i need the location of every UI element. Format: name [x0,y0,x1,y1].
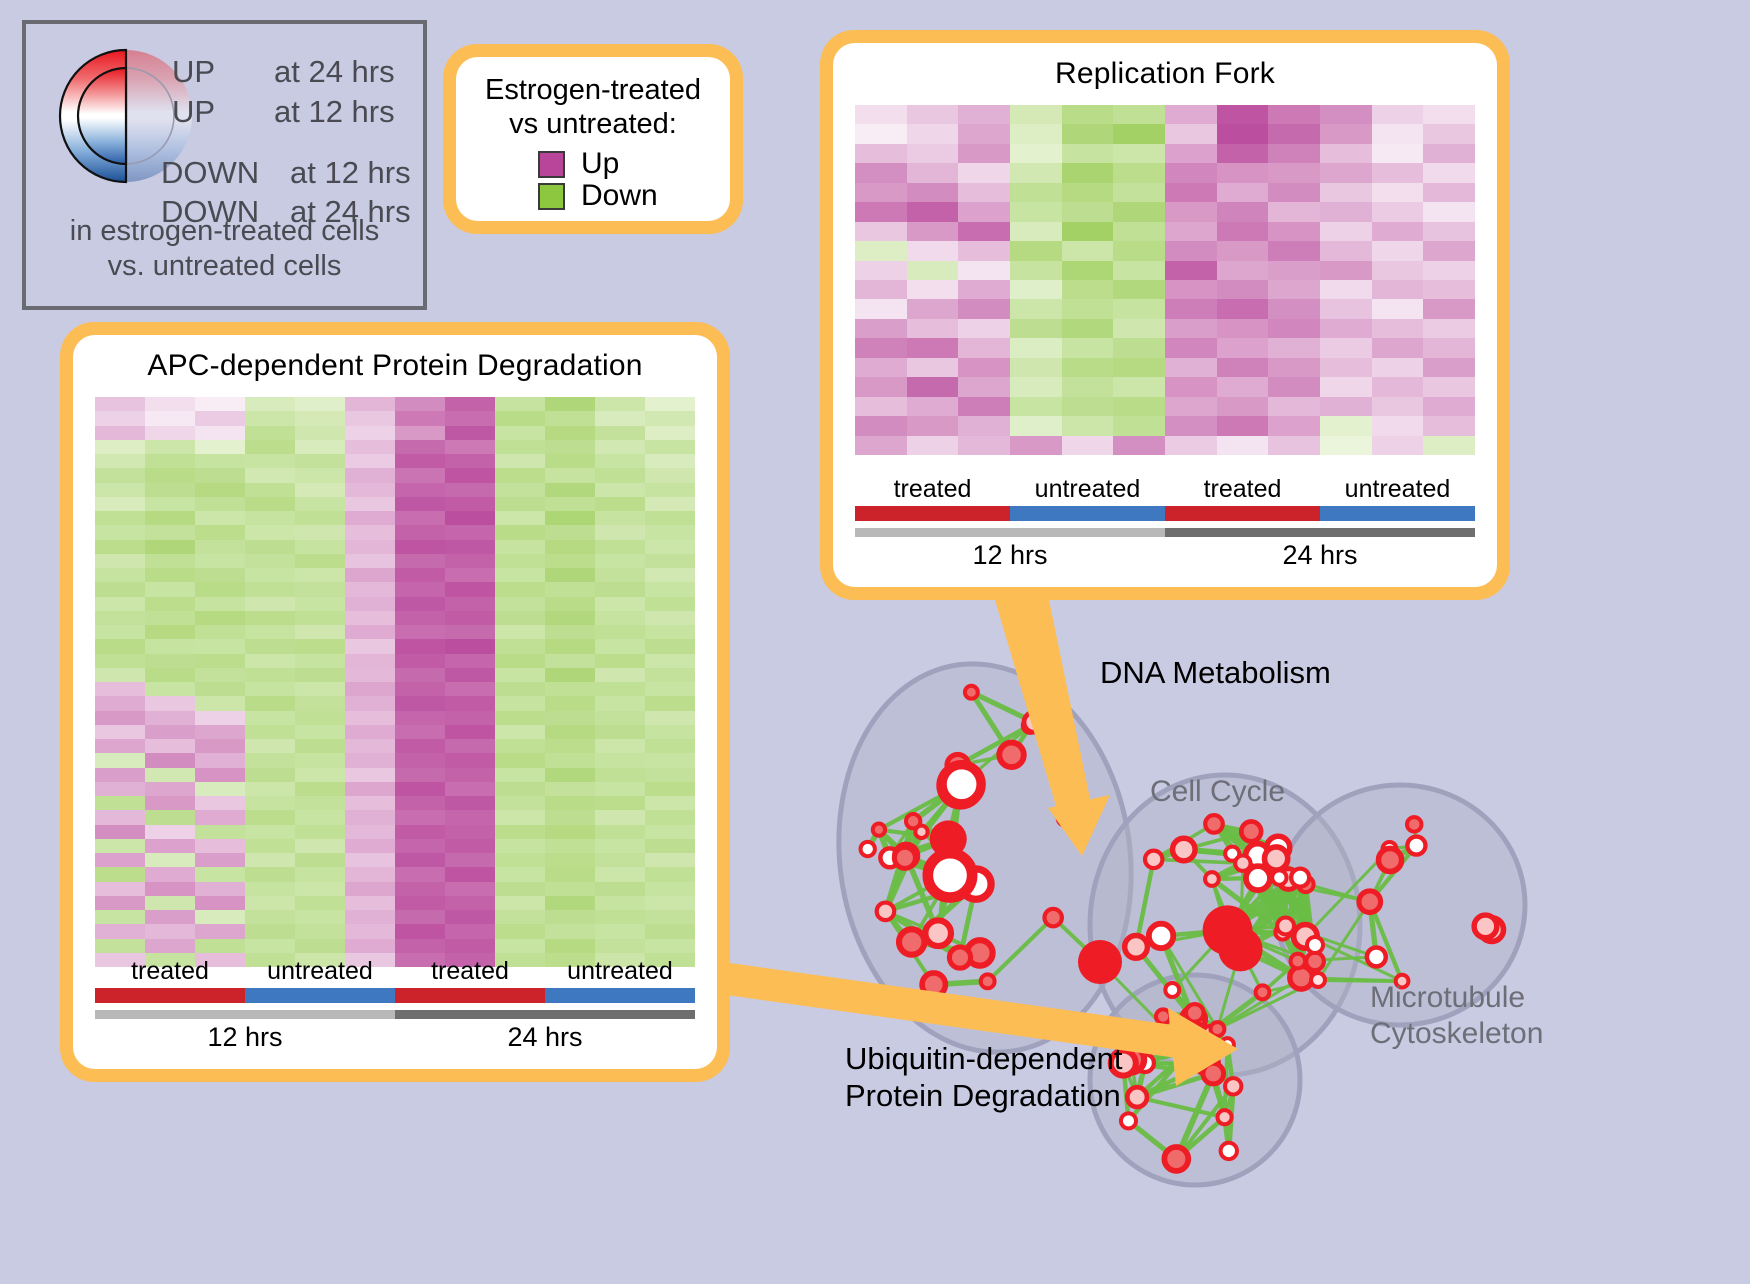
heatmap-cell [95,582,145,596]
heatmap-cell [1062,338,1114,357]
heatmap-cell [195,397,245,411]
time-bar-segment [855,528,1165,537]
heatmap-cell [545,810,595,824]
heatmap-cell [295,882,345,896]
heatmap-cell [95,782,145,796]
time-bar-segment [1165,528,1475,537]
heatmap-cell [245,939,295,953]
heatmap-cell [1217,436,1269,455]
heatmap-cell [295,454,345,468]
heatmap-cell [1320,105,1372,124]
heatmap-cell [1268,397,1320,416]
heatmap-cell [495,739,545,753]
heatmap-cell [1165,202,1217,221]
heatmap-cell [145,440,195,454]
heatmap-cell [1165,319,1217,338]
heatmap-cell [395,839,445,853]
heatmap-cell [195,554,245,568]
heatmap-cell [495,796,545,810]
heatmap-cell [595,810,645,824]
network-node [1024,712,1044,732]
heatmap-cell [1320,163,1372,182]
heatmap-cell [645,511,695,525]
heatmap-cell [145,939,195,953]
heatmap-cell [95,910,145,924]
heatmap-cell [1268,144,1320,163]
heatmap-cell [95,554,145,568]
heatmap-cell [545,426,595,440]
network-node [1221,1038,1234,1051]
heatmap-cell [445,511,495,525]
heatmap-cell [195,639,245,653]
condition-bar-segment [95,988,245,1003]
heatmap-cell [295,397,345,411]
heatmap-cell [545,468,595,482]
heatmap-cell [855,338,907,357]
heatmap-cell [95,668,145,682]
heatmap-cell [1423,377,1475,396]
network-node [1407,817,1421,831]
heatmap-cell [395,397,445,411]
heatmap-cell [195,910,245,924]
heatmap-cell [1113,105,1165,124]
heatmap-cell [1268,436,1320,455]
heatmap-cell [195,440,245,454]
heatmap-cell [295,597,345,611]
heatmap-cell [345,397,395,411]
heatmap-cell [1268,105,1320,124]
heatmap-cell [545,739,595,753]
heatmap-cell [1423,163,1475,182]
heatmap-cell [1113,124,1165,143]
down-swatch-icon [538,183,565,210]
network-node [1203,1063,1224,1084]
heatmap-cell [907,358,959,377]
heatmap-cell [958,222,1010,241]
heatmap-cell [145,910,195,924]
heatmap-cell [545,711,595,725]
heatmap-cell [245,411,295,425]
heatmap-cell [395,739,445,753]
heatmap-cell [495,468,545,482]
heatmap-cell [495,867,545,881]
heatmap-cell [545,768,595,782]
key-time-0: at 24 hrs [274,54,395,90]
heatmap-cell [295,782,345,796]
heatmap-cell [1010,397,1062,416]
heatmap-cell [1113,280,1165,299]
heatmap-cell [595,725,645,739]
heatmap-cell [245,825,295,839]
heatmap-cell [545,924,595,938]
network-node [999,743,1023,767]
heatmap-cell [1217,124,1269,143]
heatmap-cell [595,454,645,468]
heatmap-cell [1217,105,1269,124]
heatmap-cell [545,782,595,796]
heatmap-cell [1010,416,1062,435]
heatmap-cell [855,183,907,202]
heatmap-cell [395,654,445,668]
heatmap-cell [395,525,445,539]
heatmap-cell [1268,280,1320,299]
heatmap-cell [1165,222,1217,241]
heatmap-cell [1165,377,1217,396]
heatmap-cell [145,882,195,896]
heatmap-cell [95,654,145,668]
condition-color-bar-apc [95,988,695,1003]
heatmap-cell [1062,397,1114,416]
condition-label: untreated [245,957,395,986]
heatmap-cell [345,753,395,767]
heatmap-cell [1010,319,1062,338]
heatmap-cell [545,939,595,953]
heatmap-cell [145,796,195,810]
condition-bar-segment [1320,506,1475,521]
heatmap-cell [95,739,145,753]
network-node [1291,954,1306,969]
heatmap-cell [195,525,245,539]
heatmap-cell [545,853,595,867]
heatmap-cell [595,939,645,953]
condition-bar-segment [1165,506,1320,521]
heatmap-cell [495,753,545,767]
heatmap-cell [1062,183,1114,202]
heatmap-cell [445,725,495,739]
heatmap-cell [1062,280,1114,299]
heatmap-cell [345,810,395,824]
heatmap-cell [445,896,495,910]
network-node [965,686,978,699]
heatmap-cell [1062,261,1114,280]
replication-fork-heatmap [855,105,1475,455]
heatmap-cell [395,711,445,725]
heatmap-cell [195,768,245,782]
heatmap-cell [958,299,1010,318]
heatmap-cell [1268,261,1320,280]
heatmap-cell [195,497,245,511]
heatmap-cell [145,397,195,411]
heatmap-cell [295,511,345,525]
heatmap-cell [145,468,195,482]
heatmap-cell [1320,261,1372,280]
heatmap-cell [195,810,245,824]
heatmap-cell [645,568,695,582]
heatmap-cell [1268,338,1320,357]
heatmap-cell [345,739,395,753]
heatmap-cell [545,411,595,425]
heatmap-cell [245,568,295,582]
heatmap-cell [145,654,195,668]
heatmap-cell [145,668,195,682]
heatmap-cell [1217,416,1269,435]
heatmap-cell [595,625,645,639]
heatmap-cell [1165,241,1217,260]
heatmap-cell [345,511,395,525]
heatmap-cell [245,597,295,611]
heatmap-cell [1217,222,1269,241]
heatmap-cell [395,853,445,867]
condition-label: treated [95,957,245,986]
key-footer: in estrogen-treated cells vs. untreated … [26,214,423,285]
heatmap-cell [958,280,1010,299]
heatmap-cell [395,796,445,810]
network-node [1164,1147,1188,1171]
heatmap-cell [1010,222,1062,241]
heatmap-cell [1320,358,1372,377]
heatmap-cell [495,654,545,668]
heatmap-cell [95,768,145,782]
heatmap-cell [195,682,245,696]
legend-item-up-label: Up [581,149,619,179]
heatmap-cell [1165,105,1217,124]
heatmap-cell [445,611,495,625]
heatmap-cell [445,853,495,867]
condition-bar-segment [245,988,395,1003]
network-node [981,974,995,988]
heatmap-cell [645,825,695,839]
heatmap-cell [345,668,395,682]
network-node [922,973,945,996]
heatmap-cell [495,668,545,682]
heatmap-cell [145,554,195,568]
heatmap-cell [245,454,295,468]
heatmap-cell [145,540,195,554]
heatmap-cell [195,568,245,582]
heatmap-cell [395,810,445,824]
heatmap-cell [1372,124,1424,143]
heatmap-cell [1165,436,1217,455]
heatmap-cell [95,753,145,767]
heatmap-cell [195,411,245,425]
condition-label: untreated [1010,475,1165,504]
heatmap-cell [1113,358,1165,377]
heatmap-cell [958,397,1010,416]
heatmap-cell [1165,280,1217,299]
heatmap-cell [1113,397,1165,416]
heatmap-cell [95,411,145,425]
network-node [1311,973,1325,987]
condition-label: treated [1165,475,1320,504]
heatmap-cell [1165,358,1217,377]
heatmap-cell [495,411,545,425]
heatmap-cell [345,468,395,482]
cluster-label-cell-cycle: Cell Cycle [1150,775,1285,809]
legend-key-box: UP at 24 hrs UP at 12 hrs DOWN at 12 hrs… [22,20,427,310]
heatmap-cell [345,939,395,953]
time-label: 24 hrs [395,1022,695,1053]
heatmap-cell [1010,299,1062,318]
heatmap-cell [395,625,445,639]
heatmap-cell [395,540,445,554]
heatmap-cell [645,454,695,468]
heatmap-cell [595,440,645,454]
heatmap-cell [145,696,195,710]
heatmap-cell [395,725,445,739]
heatmap-cell [595,597,645,611]
heatmap-cell [855,416,907,435]
heatmap-cell [645,625,695,639]
heatmap-cell [1320,222,1372,241]
heatmap-cell [545,397,595,411]
heatmap-cell [345,483,395,497]
heatmap-cell [645,696,695,710]
heatmap-cell [345,497,395,511]
heatmap-cell [395,939,445,953]
heatmap-cell [245,554,295,568]
time-bar-segment [395,1010,695,1019]
heatmap-cell [395,825,445,839]
heatmap-cell [445,825,495,839]
heatmap-cell [445,540,495,554]
heatmap-cell [545,639,595,653]
heatmap-cell [295,725,345,739]
network-node [928,853,972,897]
condition-label: treated [395,957,545,986]
heatmap-cell [145,711,195,725]
heatmap-cell [345,853,395,867]
heatmap-cell [495,825,545,839]
heatmap-cell [145,639,195,653]
heatmap-cell [545,611,595,625]
heatmap-cell [595,682,645,696]
heatmap-cell [1217,163,1269,182]
condition-label: treated [855,475,1010,504]
heatmap-cell [545,882,595,896]
heatmap-cell [195,739,245,753]
heatmap-cell [445,711,495,725]
heatmap-cell [1217,261,1269,280]
heatmap-cell [345,554,395,568]
heatmap-cell [1320,436,1372,455]
heatmap-cell [1372,397,1424,416]
heatmap-cell [195,882,245,896]
key-direction-1: UP [172,94,215,130]
network-node [942,765,981,804]
heatmap-cell [395,483,445,497]
heatmap-cell [395,924,445,938]
cluster-label-microtubule-cytoskeleton: Microtubule Cytoskeleton [1370,980,1543,1052]
heatmap-cell [245,639,295,653]
heatmap-cell [445,768,495,782]
heatmap-cell [295,682,345,696]
heatmap-cell [595,896,645,910]
heatmap-cell [545,696,595,710]
heatmap-cell [595,782,645,796]
heatmap-cell [95,397,145,411]
heatmap-cell [345,725,395,739]
heatmap-cell [345,696,395,710]
heatmap-cell [245,924,295,938]
heatmap-cell [1320,241,1372,260]
heatmap-cell [855,105,907,124]
heatmap-cell [1165,124,1217,143]
network-node [1181,1045,1194,1058]
heatmap-cell [295,839,345,853]
heatmap-cell [395,782,445,796]
heatmap-cell [645,910,695,924]
heatmap-cell [245,625,295,639]
time-color-bar-apc [95,1010,695,1019]
heatmap-cell [1165,261,1217,280]
heatmap-cell [1217,241,1269,260]
heatmap-cell [1423,416,1475,435]
network-node [1125,936,1148,959]
heatmap-cell [645,525,695,539]
time-labels-replication: 12 hrs24 hrs [855,540,1475,571]
heatmap-cell [1372,241,1424,260]
heatmap-cell [295,525,345,539]
heatmap-cell [645,411,695,425]
heatmap-cell [245,753,295,767]
heatmap-cell [907,397,959,416]
heatmap-cell [245,810,295,824]
heatmap-cell [595,582,645,596]
heatmap-cell [145,511,195,525]
heatmap-cell [1320,202,1372,221]
figure-canvas: UP at 24 hrs UP at 12 hrs DOWN at 12 hrs… [0,0,1750,1279]
heatmap-cell [395,639,445,653]
heatmap-cell [645,397,695,411]
heatmap-cell [545,597,595,611]
heatmap-cell [345,540,395,554]
heatmap-cell [958,144,1010,163]
heatmap-cell [295,867,345,881]
heatmap-cell [1113,163,1165,182]
heatmap-cell [1113,436,1165,455]
heatmap-cell [195,711,245,725]
heatmap-cell [907,416,959,435]
heatmap-cell [395,597,445,611]
heatmap-cell [595,768,645,782]
heatmap-cell [1010,144,1062,163]
heatmap-cell [295,768,345,782]
heatmap-cell [1372,105,1424,124]
pathway-network-diagram: DNA Metabolism Cell Cycle Microtubule Cy… [770,600,1750,1279]
heatmap-cell [295,810,345,824]
heatmap-cell [545,454,595,468]
heatmap-cell [195,839,245,853]
heatmap-cell [545,497,595,511]
heatmap-cell [1320,416,1372,435]
heatmap-cell [345,440,395,454]
heatmap-cell [395,511,445,525]
heatmap-cell [1165,163,1217,182]
heatmap-cell [145,825,195,839]
heatmap-cell [195,867,245,881]
network-node [1218,927,1262,971]
heatmap-cell [595,411,645,425]
network-node [861,842,875,856]
time-label: 12 hrs [855,540,1165,571]
microtubule-line-2: Cytoskeleton [1370,1016,1543,1052]
network-node [1378,848,1401,871]
heatmap-cell [1372,299,1424,318]
heatmap-cell [907,202,959,221]
time-label: 12 hrs [95,1022,395,1053]
heatmap-cell [195,696,245,710]
heatmap-cell [958,377,1010,396]
heatmap-cell [195,611,245,625]
heatmap-cell [1423,241,1475,260]
heatmap-cell [645,839,695,853]
network-node [873,823,885,835]
heatmap-cell [345,426,395,440]
network-node [1474,915,1497,938]
heatmap-cell [495,910,545,924]
heatmap-cell [395,682,445,696]
network-node [1264,847,1287,870]
